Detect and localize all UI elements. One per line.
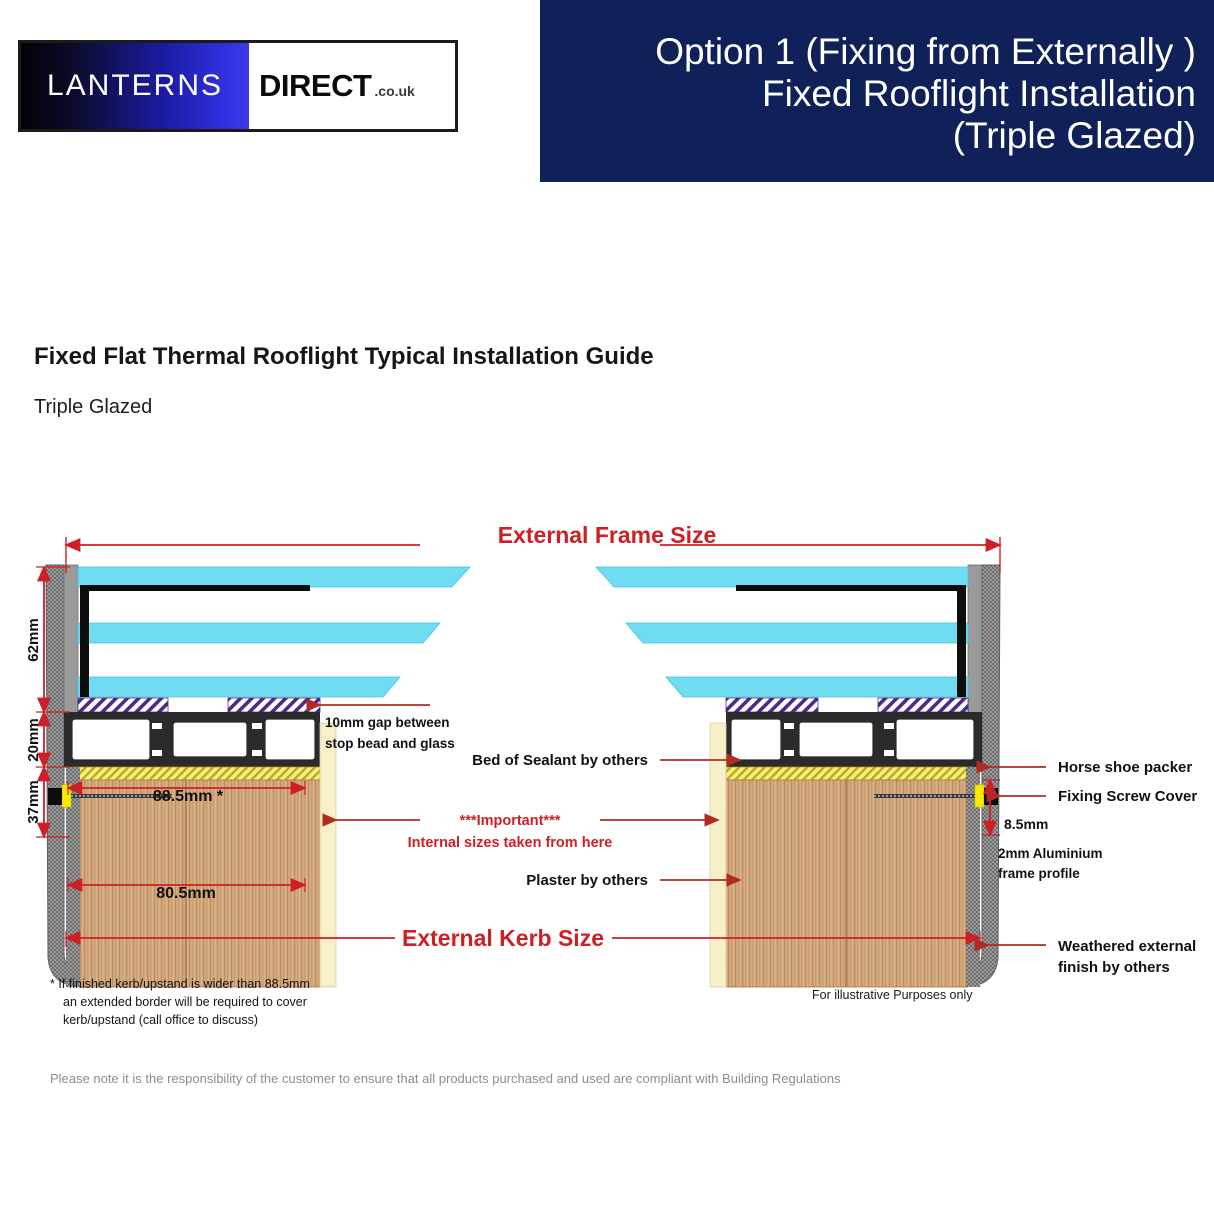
- bed-of-sealant-right: [726, 767, 973, 780]
- building-regs-disclaimer: Please note it is the responsibility of …: [50, 1071, 841, 1086]
- page-title: Fixed Flat Thermal Rooflight Typical Ins…: [34, 343, 654, 371]
- label-bed-of-sealant: Bed of Sealant by others: [472, 752, 648, 769]
- left-section-assembly: [46, 565, 470, 987]
- stop-bead-top-right: [736, 585, 966, 591]
- illustrative-note: For illustrative Purposes only: [812, 988, 972, 1002]
- stop-bead-vertical-right: [957, 585, 966, 697]
- timber-kerb-left: [80, 780, 320, 987]
- kerb-footnote: * If finished kerb/upstand is wider than…: [50, 975, 390, 1029]
- kerb-footnote-line-2: an extended border will be required to c…: [50, 993, 390, 1011]
- glazing-tape-left-a: [78, 698, 168, 712]
- label-horse-shoe-packer: Horse shoe packer: [1058, 759, 1192, 776]
- label-external-kerb-size: External Kerb Size: [402, 925, 604, 951]
- glass-pane-middle-right: [626, 623, 968, 643]
- label-alu-profile-line1: 2mm Aluminium: [998, 846, 1103, 861]
- label-gap-note-line1: 10mm gap between: [325, 715, 450, 730]
- label-alu-profile-line2: frame profile: [998, 866, 1080, 881]
- glass-pane-middle-left: [78, 623, 440, 643]
- label-80-5mm: 80.5mm: [156, 885, 216, 902]
- glass-pane-outer-left: [78, 567, 470, 587]
- installation-cross-section-diagram: External Frame Size External Kerb Size 6…: [0, 495, 1214, 1035]
- page-header: LANTERNS DIRECT .co.uk Option 1 (Fixing …: [0, 0, 1214, 190]
- label-fixing-screw-cover: Fixing Screw Cover: [1058, 788, 1197, 805]
- header-title-line-3: (Triple Glazed): [953, 115, 1196, 157]
- header-title-line-1: Option 1 (Fixing from Externally ): [655, 31, 1196, 73]
- header-title-line-2: Fixed Rooflight Installation: [762, 73, 1196, 115]
- fixing-screw-cover-outer-left: [48, 788, 62, 805]
- bed-of-sealant-left: [73, 767, 320, 780]
- logo-tld-text: .co.uk: [374, 83, 414, 99]
- logo-lanterns-text: LANTERNS: [47, 69, 223, 103]
- header-title-panel: Option 1 (Fixing from Externally ) Fixed…: [540, 0, 1214, 182]
- horse-shoe-packer-right: [975, 785, 984, 807]
- label-weathered-line1: Weathered external: [1058, 938, 1196, 955]
- label-8-5mm: 8.5mm: [1004, 816, 1048, 832]
- label-important-line2: Internal sizes taken from here: [408, 835, 613, 851]
- page-subtitle: Triple Glazed: [34, 396, 152, 419]
- plaster-right: [710, 723, 726, 987]
- logo-direct-block: DIRECT .co.uk: [249, 43, 455, 129]
- label-plaster: Plaster by others: [526, 872, 648, 889]
- stop-bead-top-left: [80, 585, 310, 591]
- glass-pane-inner-right: [666, 677, 968, 697]
- label-37mm: 37mm: [25, 780, 42, 823]
- kerb-footnote-line-3: kerb/upstand (call office to discuss): [50, 1011, 390, 1029]
- plaster-left: [320, 723, 336, 987]
- label-important-line1: ***Important***: [460, 813, 561, 829]
- frame-outer-face-left: [64, 565, 78, 715]
- stop-bead-vertical-left: [80, 585, 89, 697]
- label-gap-note-line2: stop bead and glass: [325, 736, 455, 751]
- label-weathered-line2: finish by others: [1058, 959, 1170, 976]
- frame-outer-face-right: [968, 565, 982, 715]
- glazing-tape-right-b: [726, 698, 818, 712]
- label-20mm: 20mm: [25, 718, 42, 761]
- right-section-assembly: [596, 565, 1000, 987]
- label-62mm: 62mm: [25, 618, 42, 661]
- glass-pane-inner-left: [78, 677, 400, 697]
- glazing-tape-left-b: [228, 698, 320, 712]
- glass-pane-outer-right: [596, 567, 968, 587]
- logo-lanterns-block: LANTERNS: [21, 43, 249, 129]
- label-88-5mm: 88.5mm *: [153, 788, 224, 805]
- logo-direct-text: DIRECT: [259, 68, 371, 104]
- glazing-tape-right-a: [878, 698, 968, 712]
- brand-logo: LANTERNS DIRECT .co.uk: [18, 40, 458, 132]
- aluminium-frame-profile-right: [726, 712, 982, 767]
- kerb-footnote-line-1: * If finished kerb/upstand is wider than…: [50, 977, 310, 991]
- fixing-screw-cover-outer-right: [984, 788, 998, 805]
- label-external-frame-size: External Frame Size: [498, 522, 717, 548]
- aluminium-frame-profile-left: [64, 712, 320, 767]
